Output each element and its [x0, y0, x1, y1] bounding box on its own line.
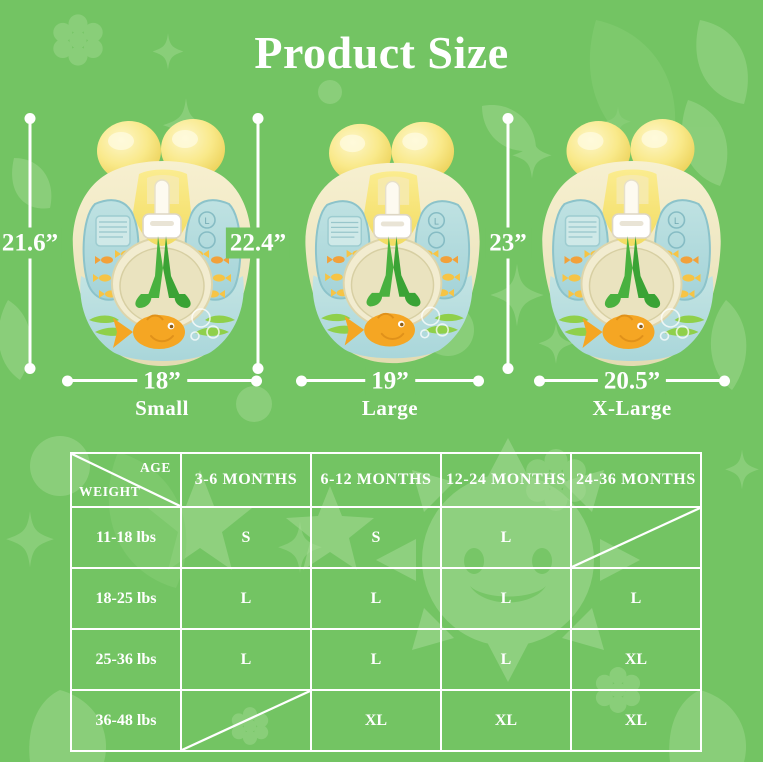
- cell-36-48-24-36: XL: [571, 690, 701, 751]
- dimension-endpoint-dot: [503, 113, 514, 124]
- weight-axis-label: WEIGHT: [79, 484, 140, 500]
- cell-25-36-6-12: L: [311, 629, 441, 690]
- table-corner-cell: AGE WEIGHT: [71, 453, 181, 507]
- cell-36-48-12-24: XL: [441, 690, 571, 751]
- dimension-endpoint-dot: [296, 376, 307, 387]
- cell-25-36-24-36: XL: [571, 629, 701, 690]
- width-dimension-large: 19”: [296, 368, 484, 394]
- height-label-large: 22.4”: [226, 228, 290, 259]
- svg-text:L: L: [204, 216, 209, 226]
- table-header-row: AGE WEIGHT 3-6 MONTHS 6-12 MONTHS 12-24 …: [71, 453, 701, 507]
- page-title: Product Size: [0, 26, 763, 79]
- dimension-endpoint-dot: [251, 376, 262, 387]
- baby-swim-float-icon: L: [522, 108, 742, 378]
- dimension-endpoint-dot: [25, 113, 36, 124]
- width-dimension-small: 18”: [62, 368, 262, 394]
- baby-swim-float-icon: L: [288, 108, 498, 378]
- product-image-xlarge: L: [522, 108, 742, 378]
- row-header-25-36-lbs: 25-36 lbs: [71, 629, 181, 690]
- width-label-large: 19”: [365, 367, 415, 396]
- row-header-11-18-lbs: 11-18 lbs: [71, 507, 181, 568]
- cell-18-25-6-12: L: [311, 568, 441, 629]
- cell-11-18-3-6: S: [181, 507, 311, 568]
- cell-11-18-12-24: L: [441, 507, 571, 568]
- cell-18-25-24-36: L: [571, 568, 701, 629]
- height-label-small: 21.6”: [0, 228, 62, 259]
- column-header-3-6-months: 3-6 MONTHS: [181, 453, 311, 507]
- cell-18-25-12-24: L: [441, 568, 571, 629]
- dimension-endpoint-dot: [473, 376, 484, 387]
- dimension-endpoint-dot: [719, 376, 730, 387]
- row-header-36-48-lbs: 36-48 lbs: [71, 690, 181, 751]
- column-header-6-12-months: 6-12 MONTHS: [311, 453, 441, 507]
- dimension-endpoint-dot: [253, 113, 264, 124]
- age-axis-label: AGE: [140, 460, 171, 476]
- table-row: 36-48 lbs XL XL XL: [71, 690, 701, 751]
- row-header-18-25-lbs: 18-25 lbs: [71, 568, 181, 629]
- height-dimension-large: 22.4”: [228, 108, 288, 378]
- dimension-endpoint-dot: [534, 376, 545, 387]
- svg-text:L: L: [674, 216, 679, 226]
- column-header-24-36-months: 24-36 MONTHS: [571, 453, 701, 507]
- width-label-small: 18”: [137, 367, 187, 396]
- dimension-endpoint-dot: [62, 376, 73, 387]
- height-dimension-small: 21.6”: [0, 108, 60, 378]
- not-applicable-strike-icon: [182, 691, 310, 750]
- dimension-endpoint-dot: [503, 363, 514, 374]
- cell-11-18-6-12: S: [311, 507, 441, 568]
- table-row: 18-25 lbs L L L L: [71, 568, 701, 629]
- svg-text:L: L: [434, 216, 439, 226]
- size-name-large: Large: [296, 396, 484, 421]
- column-header-12-24-months: 12-24 MONTHS: [441, 453, 571, 507]
- table-row: 11-18 lbs S S L: [71, 507, 701, 568]
- size-name-small: Small: [62, 396, 262, 421]
- size-chart-table: AGE WEIGHT 3-6 MONTHS 6-12 MONTHS 12-24 …: [70, 452, 702, 752]
- cell-36-48-6-12: XL: [311, 690, 441, 751]
- cell-11-18-24-36-na: [571, 507, 701, 568]
- size-name-xlarge: X-Large: [534, 396, 730, 421]
- product-size-infographic: Product Size 21.6”: [0, 0, 763, 762]
- not-applicable-strike-icon: [572, 508, 700, 567]
- cell-25-36-3-6: L: [181, 629, 311, 690]
- dimension-endpoint-dot: [25, 363, 36, 374]
- width-label-xlarge: 20.5”: [598, 367, 666, 396]
- cell-36-48-3-6-na: [181, 690, 311, 751]
- product-image-large: L: [288, 108, 498, 378]
- width-dimension-xlarge: 20.5”: [534, 368, 730, 394]
- table-row: 25-36 lbs L L L XL: [71, 629, 701, 690]
- cell-25-36-12-24: L: [441, 629, 571, 690]
- cell-18-25-3-6: L: [181, 568, 311, 629]
